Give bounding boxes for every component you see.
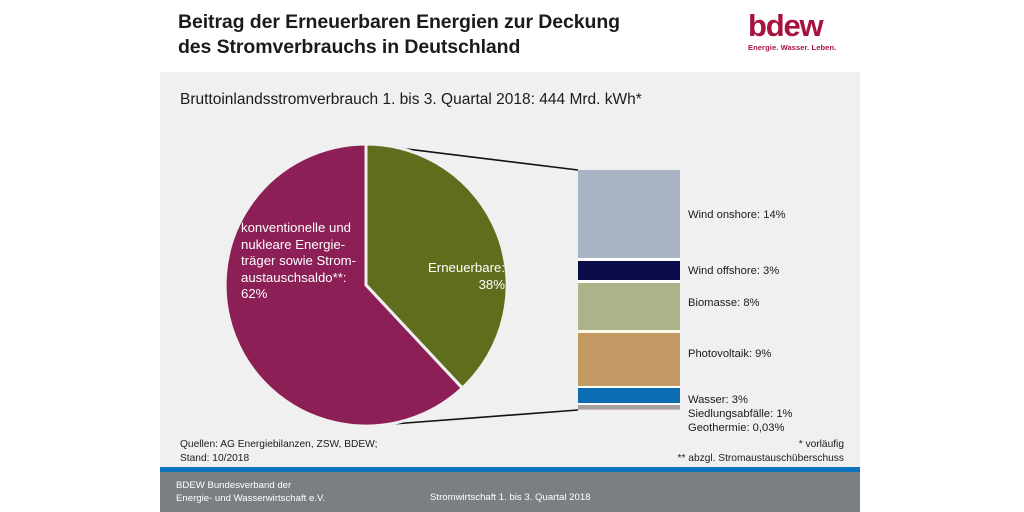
bar-segment-wind-onshore xyxy=(578,170,680,258)
chart-panel: Bruttoinlandsstromverbrauch 1. bis 3. Qu… xyxy=(160,72,860,467)
legend-item-biomasse: Biomasse: 8% xyxy=(688,297,760,309)
title-line-1: Beitrag der Erneuerbaren Energien zur De… xyxy=(178,10,738,35)
footer-subject: Stromwirtschaft 1. bis 3. Quartal 2018 xyxy=(430,492,591,503)
logo-wordmark: bdew xyxy=(748,10,860,42)
title-line-2: des Stromverbrauchs in Deutschland xyxy=(178,35,738,60)
header: Beitrag der Erneuerbaren Energien zur De… xyxy=(0,0,1024,72)
pie-chart: konventionelle und nukleare Energie- trä… xyxy=(223,142,509,428)
pie-label-erneuerbare: Erneuerbare: 38% xyxy=(409,260,505,293)
bar-segment-wasser xyxy=(578,388,680,403)
legend-item-geothermie: Geothermie: 0,03% xyxy=(688,422,784,434)
footer-organization: BDEW Bundesverband der Energie- und Wass… xyxy=(176,479,325,505)
legend-item-wind-offshore: Wind offshore: 3% xyxy=(688,265,779,277)
page-title: Beitrag der Erneuerbaren Energien zur De… xyxy=(178,10,738,60)
legend-item-siedlungsabfaelle: Siedlungsabfälle: 1% xyxy=(688,408,793,420)
renewables-stacked-bar xyxy=(578,170,680,410)
bdew-logo: bdew Energie. Wasser. Leben. xyxy=(748,10,860,58)
legend-item-wind-onshore: Wind onshore: 14% xyxy=(688,209,786,221)
footer-bar: BDEW Bundesverband der Energie- und Wass… xyxy=(160,472,860,512)
sources-note: Quellen: AG Energiebilanzen, ZSW, BDEW; … xyxy=(180,438,377,465)
legend-item-wasser: Wasser: 3% xyxy=(688,394,748,406)
legend-item-photovoltaik: Photovoltaik: 9% xyxy=(688,348,771,360)
bar-segment-geothermie xyxy=(578,409,680,410)
bar-segment-wind-offshore xyxy=(578,261,680,280)
bar-segment-photovoltaik xyxy=(578,333,680,386)
asterisk-notes: * vorläufig ** abzgl. Stromaustauschüber… xyxy=(678,438,844,465)
chart-subtitle: Bruttoinlandsstromverbrauch 1. bis 3. Qu… xyxy=(180,91,642,109)
infographic-page: Beitrag der Erneuerbaren Energien zur De… xyxy=(0,0,1024,512)
bar-legend: Wind onshore: 14% Wind offshore: 3% Biom… xyxy=(688,170,868,410)
logo-tagline: Energie. Wasser. Leben. xyxy=(748,43,860,52)
bar-segment-biomasse xyxy=(578,283,680,330)
pie-label-konventionell: konventionelle und nukleare Energie- trä… xyxy=(241,220,381,303)
